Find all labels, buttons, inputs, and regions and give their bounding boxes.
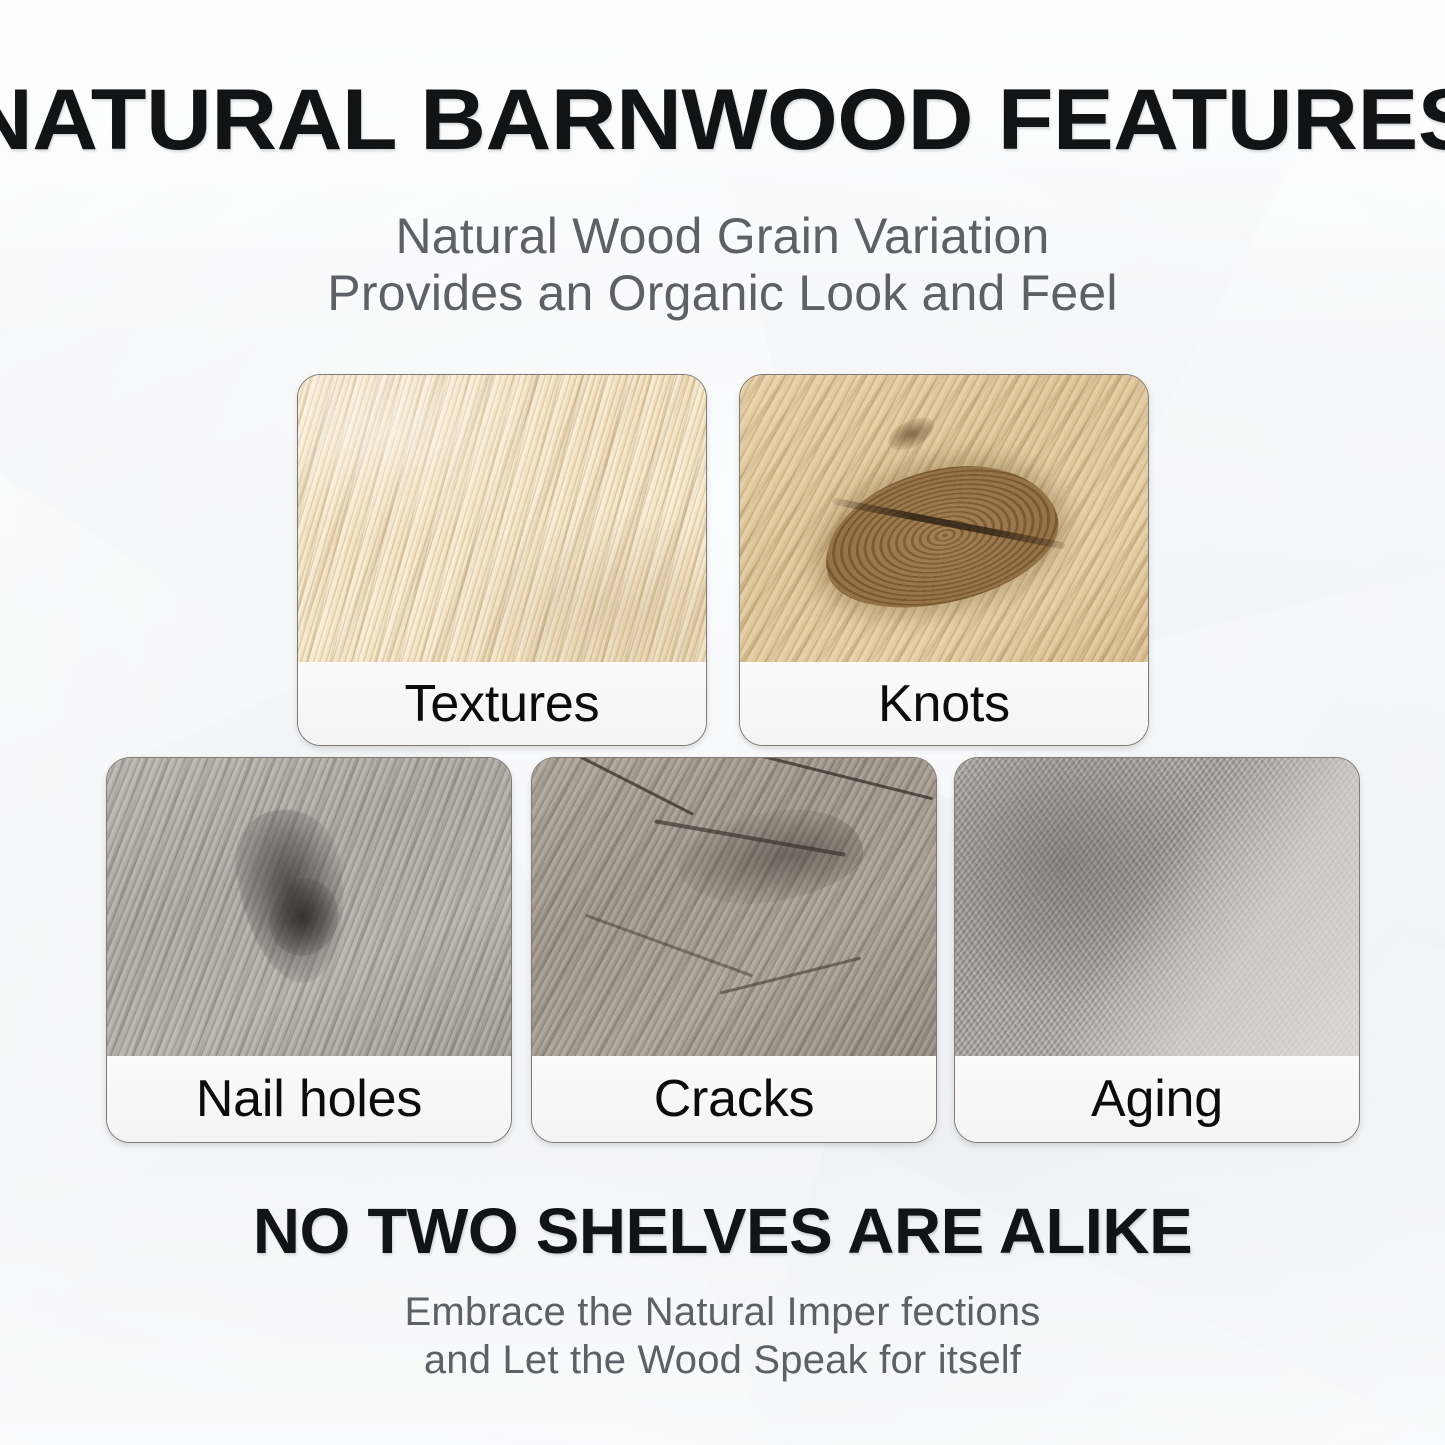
feature-card-textures-photo bbox=[298, 375, 706, 664]
page-subtitle-line-2: Provides an Organic Look and Feel bbox=[0, 265, 1445, 322]
feature-card-nail-holes[interactable]: Nail holes bbox=[106, 757, 512, 1143]
bottom-subtitle-line-1: Embrace the Natural Imper fections bbox=[0, 1288, 1445, 1336]
page-subtitle-line-1: Natural Wood Grain Variation bbox=[0, 208, 1445, 265]
wood-knot-image bbox=[740, 375, 1148, 664]
feature-card-cracks-label: Cracks bbox=[532, 1056, 936, 1142]
feature-card-nail-holes-label: Nail holes bbox=[107, 1056, 511, 1142]
feature-card-aging-label: Aging bbox=[955, 1056, 1359, 1142]
wood-nail-hole-image bbox=[107, 758, 511, 1058]
crack-gouge-detail bbox=[672, 798, 870, 916]
feature-card-aging-photo bbox=[955, 758, 1359, 1058]
feature-card-textures[interactable]: Textures bbox=[297, 374, 707, 746]
crack-line-detail bbox=[585, 914, 753, 978]
crack-line-detail bbox=[720, 956, 862, 994]
feature-card-cracks[interactable]: Cracks bbox=[531, 757, 937, 1143]
wood-aging-image bbox=[955, 758, 1359, 1058]
feature-card-nail-holes-photo bbox=[107, 758, 511, 1058]
feature-card-cracks-photo bbox=[532, 758, 936, 1058]
feature-card-knots-photo bbox=[740, 375, 1148, 664]
page-subtitle: Natural Wood Grain Variation Provides an… bbox=[0, 208, 1445, 322]
content-container: NATURAL BARNWOOD FEATURES Natural Wood G… bbox=[0, 0, 1445, 1445]
feature-card-textures-label: Textures bbox=[298, 662, 706, 745]
bottom-title: NO TWO SHELVES ARE ALIKE bbox=[0, 1194, 1445, 1268]
wood-texture-image bbox=[298, 375, 706, 664]
infographic-page: NATURAL BARNWOOD FEATURES Natural Wood G… bbox=[0, 0, 1445, 1445]
crack-line-detail bbox=[548, 758, 693, 816]
wood-cracks-image bbox=[532, 758, 936, 1058]
feature-card-aging[interactable]: Aging bbox=[954, 757, 1360, 1143]
feature-card-knots[interactable]: Knots bbox=[739, 374, 1149, 746]
knot-chip-detail bbox=[884, 412, 939, 456]
feature-card-knots-label: Knots bbox=[740, 662, 1148, 745]
bottom-subtitle: Embrace the Natural Imper fections and L… bbox=[0, 1288, 1445, 1384]
bottom-subtitle-line-2: and Let the Wood Speak for itself bbox=[0, 1336, 1445, 1384]
page-title: NATURAL BARNWOOD FEATURES bbox=[0, 72, 1445, 168]
crack-line-detail bbox=[713, 758, 933, 800]
